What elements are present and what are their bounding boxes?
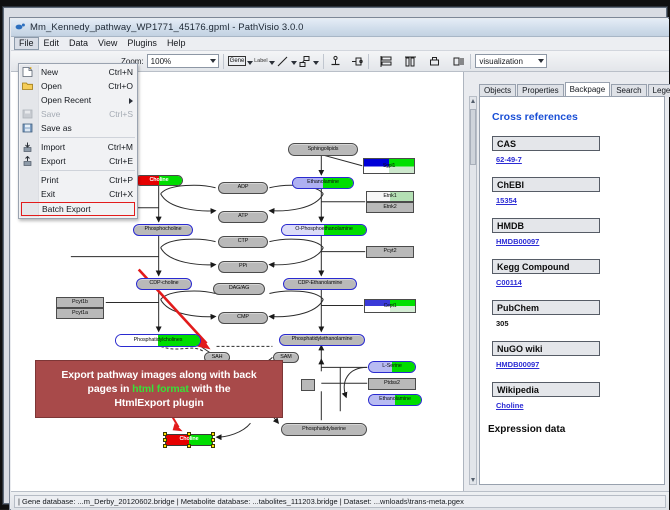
node-phosphatidylcholines[interactable]: Phosphatidylcholines (115, 334, 201, 347)
backpage-content: Cross references CAS 62-49-7 ChEBI 15354… (479, 96, 665, 485)
node-pcyt1a[interactable]: Pcyt1a (56, 308, 104, 319)
menu-divider (40, 137, 135, 138)
label-tool[interactable]: Label (253, 54, 268, 69)
node-etnk2[interactable]: Etnk2 (366, 202, 414, 213)
label-dropdown[interactable] (268, 54, 275, 69)
annotation-callout: Export pathway images along with back pa… (35, 360, 283, 418)
menu-item-import[interactable]: Import Ctrl+M (19, 140, 137, 154)
menu-item-save-as[interactable]: Save as (19, 121, 137, 135)
scrollbar-thumb[interactable] (470, 109, 476, 165)
side-panel-tabs: Objects Properties Backpage Search Legen… (479, 82, 665, 97)
window-title: Mm_Kennedy_pathway_WP1771_45176.gpml - P… (30, 22, 304, 33)
menu-item-label: Open Recent (41, 95, 137, 105)
visualization-combo[interactable]: visualization (475, 54, 547, 68)
node-dag-ag[interactable]: DAG/AG (213, 283, 265, 295)
expression-data-title: Expression data (488, 424, 664, 435)
chevron-down-icon (291, 61, 297, 65)
geneproduct-icon: Gene (228, 56, 247, 66)
xref-nugo-wiki: NuGO wiki HMDB00097 (492, 341, 664, 369)
window-outer-frame: Mm_Kennedy_pathway_WP1771_45176.gpml - P… (3, 7, 667, 504)
node-cdp-ethanolamine[interactable]: CDP-Ethanolamine (283, 278, 357, 290)
node-ctp[interactable]: CTP (218, 236, 268, 248)
chevron-down-icon (210, 59, 216, 63)
menu-item-open-recent[interactable]: Open Recent (19, 93, 137, 107)
menu-item-accel: Ctrl+E (109, 156, 137, 166)
callout-highlight: html format (132, 383, 189, 395)
status-bar: | Gene database: ...m_Derby_20120602.bri… (11, 491, 669, 510)
menu-item-accel: Ctrl+S (109, 109, 137, 119)
node-phosphatidylserine[interactable]: Phosphatidylserine (281, 423, 367, 436)
shape-dropdown[interactable] (312, 54, 319, 69)
menu-item-batch-export[interactable]: Batch Export (21, 202, 135, 216)
chevron-right-icon (129, 98, 133, 104)
menu-bar: File Edit Data View Plugins Help (11, 37, 669, 51)
xref-chebi: ChEBI 15354 (492, 177, 664, 205)
anchor-tool[interactable] (328, 54, 343, 69)
scroll-down-icon[interactable] (471, 478, 475, 482)
xref-source-label: HMDB (492, 218, 600, 233)
menu-item-label: Exit (41, 189, 109, 199)
xref-source-label: Wikipedia (492, 382, 600, 397)
node-phosphatidylethanolamine[interactable]: Phosphatidylethanolamine (279, 334, 365, 346)
print-tool[interactable] (427, 54, 442, 69)
group-tool[interactable] (349, 54, 364, 69)
menu-view[interactable]: View (93, 37, 122, 50)
line-tool[interactable] (275, 54, 290, 69)
callout-line-3: HtmlExport plugin (114, 397, 203, 409)
pathvisio-icon (15, 22, 26, 33)
xref-source-label: PubChem (492, 300, 600, 315)
xref-value-link[interactable]: HMDB00097 (496, 360, 664, 369)
menu-file[interactable]: File (14, 37, 39, 50)
xref-value-link[interactable]: 15354 (496, 196, 664, 205)
menu-item-accel: Ctrl+O (108, 81, 137, 91)
tab-backpage[interactable]: Backpage (565, 82, 611, 97)
menu-item-label: Open (41, 81, 108, 91)
node-phosphocholine[interactable]: Phosphocholine (133, 224, 193, 236)
menu-item-label: Batch Export (42, 204, 135, 214)
node-cdp-choline[interactable]: CDP-choline (136, 278, 192, 290)
menu-item-accel: Ctrl+X (109, 189, 137, 199)
file-menu-dropdown: New Ctrl+N Open Ctrl+O Open Recent Save … (18, 63, 138, 219)
geneproduct-tool[interactable]: Gene (228, 54, 247, 69)
chevron-down-icon (269, 61, 275, 65)
menu-data[interactable]: Data (64, 37, 93, 50)
menu-plugins[interactable]: Plugins (122, 37, 162, 50)
node-cmp[interactable]: CMP (218, 312, 268, 324)
shape-tool[interactable] (297, 54, 312, 69)
xref-source-label: ChEBI (492, 177, 600, 192)
xref-value-link[interactable]: C00114 (496, 278, 664, 287)
node-ptdss2[interactable]: Ptdss2 (368, 378, 416, 390)
geneproduct-dropdown[interactable] (246, 54, 253, 69)
xref-source-label: CAS (492, 136, 600, 151)
node-atp[interactable]: ATP (218, 211, 268, 223)
menu-edit[interactable]: Edit (39, 37, 65, 50)
node-ethanolamine-top[interactable]: Ethanolamine (292, 177, 354, 189)
toolbar-divider (323, 54, 324, 69)
menu-item-label: Import (41, 142, 108, 152)
toolbar-divider (470, 54, 471, 69)
xref-wikipedia: Wikipedia Choline (492, 382, 664, 410)
menu-item-exit[interactable]: Exit Ctrl+X (19, 187, 137, 201)
import-icon (22, 142, 33, 152)
menu-item-export[interactable]: Export Ctrl+E (19, 154, 137, 168)
cross-references-title: Cross references (492, 111, 664, 123)
callout-line-1: Export pathway images along with back (61, 369, 256, 381)
xref-value-link[interactable]: 62-49-7 (496, 155, 664, 164)
stack-tool[interactable] (403, 54, 418, 69)
node-choline-top[interactable]: Choline (135, 175, 183, 186)
zoom-value: 100% (151, 57, 171, 66)
menu-item-label: New (41, 67, 109, 77)
side-panel-scrollbar[interactable] (469, 96, 477, 485)
title-bar: Mm_Kennedy_pathway_WP1771_45176.gpml - P… (11, 19, 669, 37)
chevron-down-icon (538, 59, 544, 63)
open-folder-icon (22, 81, 33, 91)
xref-value-link[interactable]: HMDB00097 (496, 237, 664, 246)
line-dropdown[interactable] (290, 54, 297, 69)
save-disk-icon (22, 109, 33, 119)
xref-source-label: NuGO wiki (492, 341, 600, 356)
screen-root: Mm_Kennedy_pathway_WP1771_45176.gpml - P… (0, 0, 670, 509)
side-panel: Objects Properties Backpage Search Legen… (465, 72, 669, 491)
node-anchor-stub[interactable] (301, 379, 315, 391)
xref-value-plain: 305 (496, 319, 664, 328)
save-as-icon (22, 123, 33, 133)
chevron-down-icon (313, 61, 319, 65)
callout-line-2a: pages in (88, 383, 133, 395)
menu-help[interactable]: Help (162, 37, 191, 50)
menu-item-accel: Ctrl+P (109, 175, 137, 185)
export-icon (22, 156, 33, 166)
chevron-down-icon (247, 61, 253, 65)
node-pcyt2[interactable]: Pcyt2 (366, 246, 414, 258)
toolbar-divider (223, 54, 224, 69)
menu-item-open[interactable]: Open Ctrl+O (19, 79, 137, 93)
xref-kegg-compound: Kegg Compound C00114 (492, 259, 664, 287)
node-etnk1[interactable]: Etnk1 (366, 191, 414, 202)
visualization-value: visualization (479, 57, 523, 66)
pathvisio-window: Mm_Kennedy_pathway_WP1771_45176.gpml - P… (9, 17, 669, 510)
callout-line-2b: with the (189, 383, 231, 395)
menu-item-label: Save (41, 109, 109, 119)
toolbar-divider (368, 54, 369, 69)
menu-item-save: Save Ctrl+S (19, 107, 137, 121)
node-adp[interactable]: ADP (218, 182, 268, 194)
xref-pubchem: PubChem 305 (492, 300, 664, 328)
zoom-combo[interactable]: 100% (147, 54, 219, 68)
xref-cas: CAS 62-49-7 (492, 136, 664, 164)
menu-item-label: Save as (41, 123, 133, 133)
node-sgpl1[interactable]: Sgpl1 (363, 158, 415, 174)
node-ppi[interactable]: PPi (218, 261, 268, 273)
new-file-icon (22, 67, 33, 77)
menu-item-accel: Ctrl+M (108, 142, 137, 152)
menu-item-label: Export (41, 156, 109, 166)
xref-hmdb: HMDB HMDB00097 (492, 218, 664, 246)
xref-value-link[interactable]: Choline (496, 401, 664, 410)
menu-item-new[interactable]: New Ctrl+N (19, 65, 137, 79)
menu-item-label: Print (41, 175, 109, 185)
xref-source-label: Kegg Compound (492, 259, 600, 274)
align-left-tool[interactable] (379, 54, 394, 69)
node-ethanolamine-bottom[interactable]: Ethanolamine (368, 394, 422, 406)
scroll-up-icon[interactable] (471, 99, 475, 103)
node-o-phosphoethanolamine[interactable]: O-Phosphoethanolamine (281, 224, 367, 236)
menu-divider (40, 170, 135, 171)
node-sphingolipids[interactable]: Sphingolipids (288, 143, 358, 156)
node-pcyt1b[interactable]: Pcyt1b (56, 297, 104, 308)
distribute-tool[interactable] (451, 54, 466, 69)
menu-item-print[interactable]: Print Ctrl+P (19, 173, 137, 187)
node-l-serine[interactable]: L-Serine (368, 361, 416, 373)
node-cept1[interactable]: Cept1 (364, 299, 416, 313)
status-text: | Gene database: ...m_Derby_20120602.bri… (14, 495, 666, 508)
menu-item-accel: Ctrl+N (109, 67, 137, 77)
